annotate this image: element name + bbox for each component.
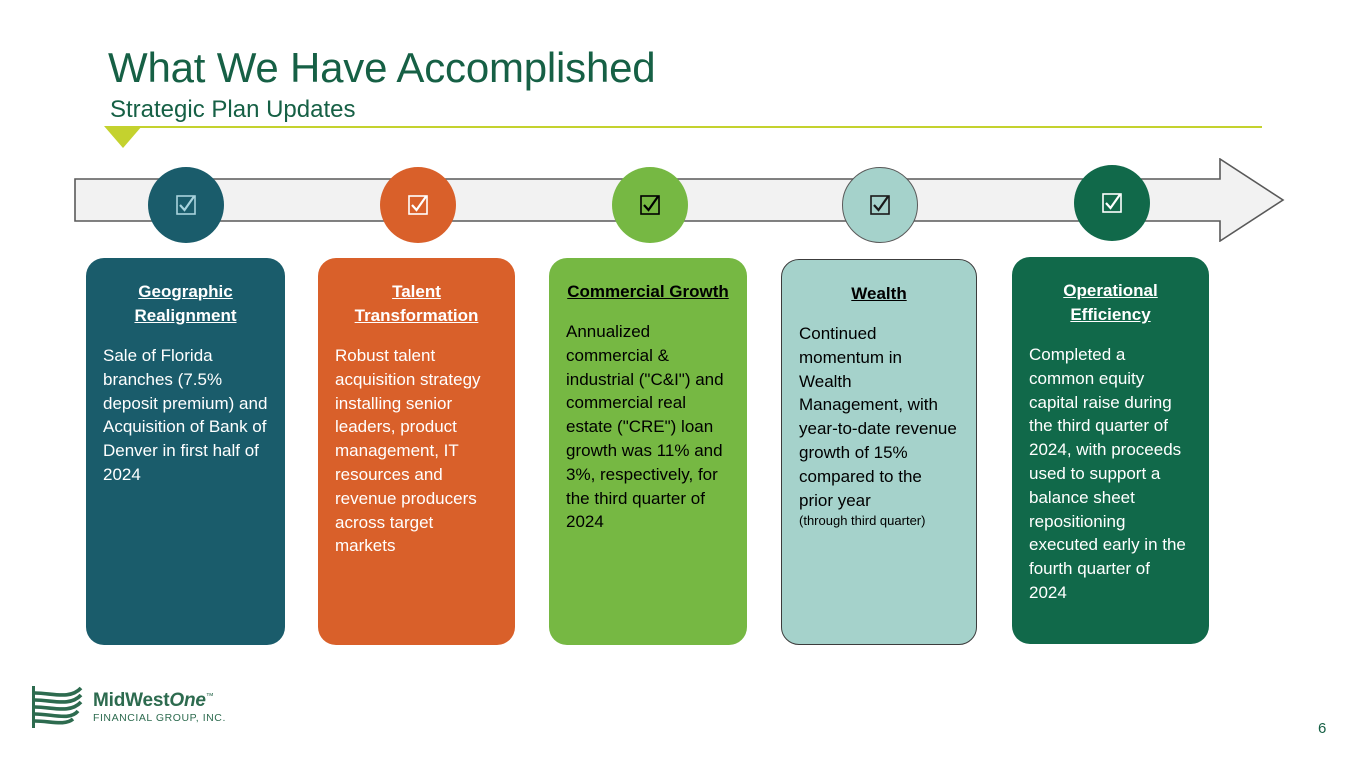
- card-wealth[interactable]: WealthContinued momentum in Wealth Manag…: [781, 259, 977, 645]
- card-geographic-realignment[interactable]: Geographic RealignmentSale of Florida br…: [86, 258, 285, 645]
- logo-subtitle: FINANCIAL GROUP, INC.: [93, 713, 226, 724]
- logo-name-part2: One: [169, 690, 205, 711]
- midwestone-logomark-icon: [32, 686, 84, 728]
- card-title: Talent Transformation: [335, 280, 498, 328]
- checkbox-checked-icon: [869, 194, 891, 216]
- card-operational-efficiency[interactable]: Operational EfficiencyCompleted a common…: [1012, 257, 1209, 644]
- card-title: Geographic Realignment: [103, 280, 268, 328]
- card-talent-transformation[interactable]: Talent TransformationRobust talent acqui…: [318, 258, 515, 645]
- card-note: (through third quarter): [799, 512, 959, 530]
- card-body: Completed a common equity capital raise …: [1029, 343, 1192, 605]
- checkbox-checked-icon: [1101, 192, 1123, 214]
- logo-trademark: ™: [206, 691, 214, 700]
- card-title: Operational Efficiency: [1029, 279, 1192, 327]
- card-body: Annualized commercial & industrial ("C&I…: [566, 320, 730, 534]
- checkbox-checked-icon: [639, 194, 661, 216]
- page-number: 6: [1318, 720, 1326, 737]
- header-divider-triangle-icon: [104, 126, 142, 148]
- logo-name: MidWestOne™: [93, 691, 226, 710]
- header-divider-line: [110, 126, 1262, 128]
- card-commercial-growth[interactable]: Commercial GrowthAnnualized commercial &…: [549, 258, 747, 645]
- timeline-node-5[interactable]: [1074, 165, 1150, 241]
- card-title: Wealth: [799, 282, 959, 306]
- company-logo: MidWestOne™ FINANCIAL GROUP, INC.: [32, 686, 226, 728]
- card-body: Robust talent acquisition strategy insta…: [335, 344, 498, 558]
- timeline-node-2[interactable]: [380, 167, 456, 243]
- logo-wordmark: MidWestOne™ FINANCIAL GROUP, INC.: [93, 691, 226, 724]
- page-subtitle: Strategic Plan Updates: [110, 94, 355, 126]
- timeline-node-3[interactable]: [612, 167, 688, 243]
- slide: What We Have Accomplished Strategic Plan…: [0, 0, 1365, 768]
- card-body: Sale of Florida branches (7.5% deposit p…: [103, 344, 268, 487]
- page-title: What We Have Accomplished: [108, 42, 655, 94]
- card-body: Continued momentum in Wealth Management,…: [799, 322, 959, 512]
- checkbox-checked-icon: [175, 194, 197, 216]
- card-title: Commercial Growth: [566, 280, 730, 304]
- logo-name-part1: MidWest: [93, 690, 169, 711]
- timeline-node-1[interactable]: [148, 167, 224, 243]
- checkbox-checked-icon: [407, 194, 429, 216]
- timeline-node-4[interactable]: [842, 167, 918, 243]
